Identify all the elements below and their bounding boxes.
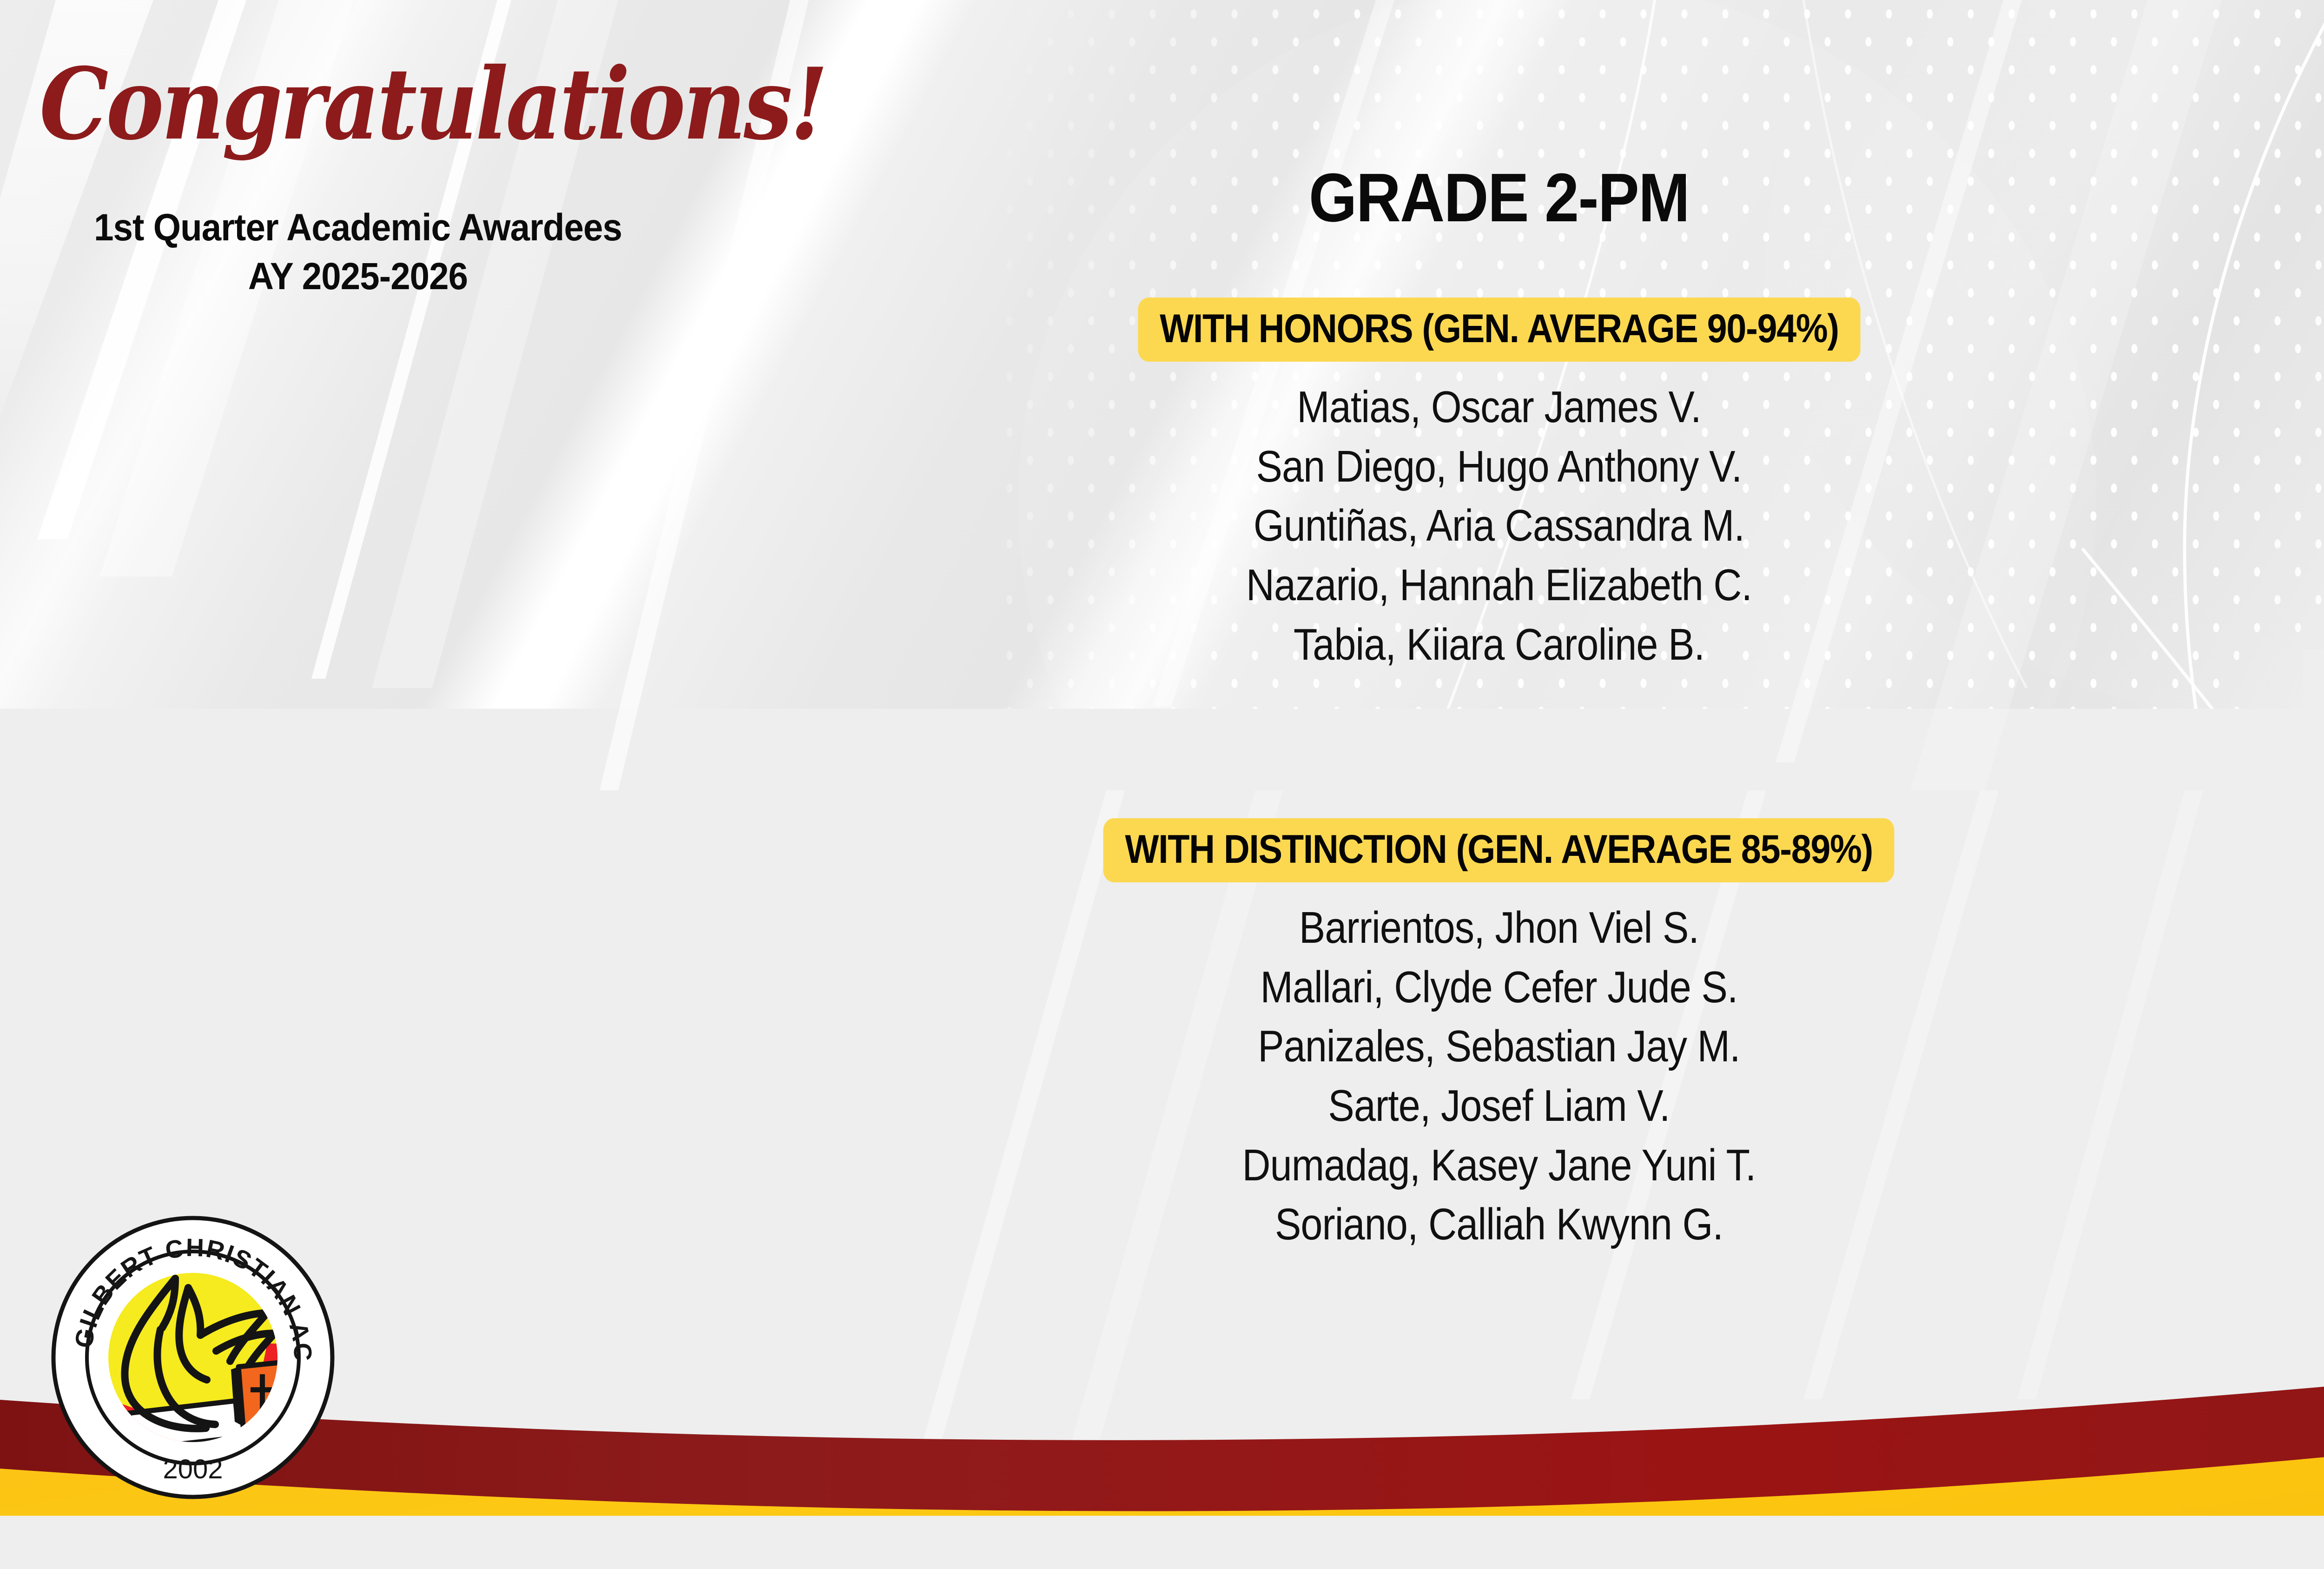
subtitle-block: 1st Quarter Academic Awardees AY 2025-20… <box>25 204 691 301</box>
left-header-panel: Congratulations! 1st Quarter Academic Aw… <box>0 0 790 1569</box>
awardee-name: Barrientos, Jhon Viel S. <box>1018 898 1980 958</box>
awardee-name: Mallari, Clyde Cefer Jude S. <box>1018 958 1980 1017</box>
grade-title: GRADE 2-PM <box>1008 164 1991 232</box>
badge-with-honors: WITH HONORS (GEN. AVERAGE 90-94%) <box>1138 298 1860 362</box>
awardee-name: Nazario, Hannah Elizabeth C. <box>1018 556 1980 615</box>
names-list-with-distinction: Barrientos, Jhon Viel S. Mallari, Clyde … <box>953 898 2045 1254</box>
section-with-distinction: WITH DISTINCTION (GEN. AVERAGE 85-89%) B… <box>953 818 2045 1254</box>
names-list-with-honors: Matias, Oscar James V. San Diego, Hugo A… <box>953 377 2045 674</box>
logo-year-text: 2002 <box>163 1454 223 1484</box>
school-logo: ANGELI GILBERT CHRISTIAN ACADEMY 2002 <box>49 1213 337 1502</box>
awardee-name: Sarte, Josef Liam V. <box>1018 1076 1980 1136</box>
subtitle-line-1: 1st Quarter Academic Awardees <box>94 206 622 249</box>
subtitle-line-2: AY 2025-2026 <box>25 252 691 301</box>
section-with-honors: WITH HONORS (GEN. AVERAGE 90-94%) Matias… <box>953 298 2045 674</box>
awardee-name: Matias, Oscar James V. <box>1018 377 1980 437</box>
awardees-content: GRADE 2-PM WITH HONORS (GEN. AVERAGE 90-… <box>953 0 2045 1395</box>
badge-with-distinction: WITH DISTINCTION (GEN. AVERAGE 85-89%) <box>1103 818 1895 882</box>
awardee-name: Dumadag, Kasey Jane Yuni T. <box>1018 1136 1980 1195</box>
awardee-name: Guntiñas, Aria Cassandra M. <box>1018 496 1980 556</box>
congratulations-heading: Congratulations! <box>40 55 678 153</box>
awardee-name: Tabia, Kiiara Caroline B. <box>1018 615 1980 675</box>
poster-canvas: Congratulations! 1st Quarter Academic Aw… <box>0 0 2324 1569</box>
awardee-name: Soriano, Calliah Kwynn G. <box>1018 1195 1980 1254</box>
awardee-name: San Diego, Hugo Anthony V. <box>1018 437 1980 497</box>
awardee-name: Panizales, Sebastian Jay M. <box>1018 1017 1980 1076</box>
